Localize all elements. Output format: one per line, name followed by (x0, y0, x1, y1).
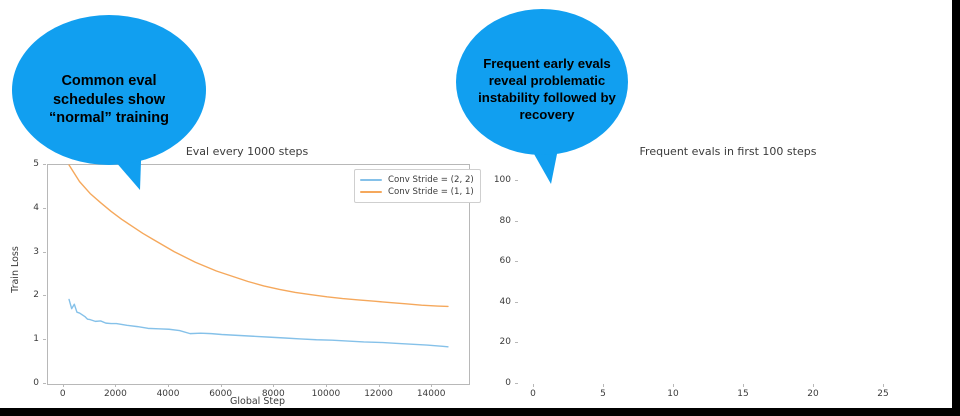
figure-canvas: Eval every 1000 steps Train Loss Global … (0, 0, 952, 408)
x-tick-label: 20 (790, 390, 836, 399)
x-tick-label: 0 (40, 390, 86, 399)
x-tick-mark (883, 384, 884, 387)
x-tick-mark (273, 384, 274, 387)
y-tick-mark (43, 383, 46, 384)
y-tick-label: 4 (5, 204, 39, 213)
y-tick-mark (515, 383, 518, 384)
x-tick-label: 4000 (145, 390, 191, 399)
x-tick-label: 0 (510, 390, 556, 399)
x-tick-label: 5 (580, 390, 626, 399)
x-tick-label: 14000 (408, 390, 454, 399)
y-tick-label: 1 (5, 335, 39, 344)
annotation-line: recovery (478, 106, 616, 123)
x-tick-mark (603, 384, 604, 387)
x-tick-mark (743, 384, 744, 387)
x-tick-label: 10 (650, 390, 696, 399)
x-tick-mark (326, 384, 327, 387)
y-tick-mark (43, 252, 46, 253)
x-tick-mark (533, 384, 534, 387)
x-tick-label: 15 (720, 390, 766, 399)
x-tick-label: 6000 (198, 390, 244, 399)
y-tick-mark (515, 342, 518, 343)
x-tick-mark (221, 384, 222, 387)
y-tick-label: 80 (477, 217, 511, 226)
y-tick-label: 40 (477, 298, 511, 307)
y-tick-mark (43, 208, 46, 209)
annotation-bubble-right-text: Frequent early evalsreveal problematicin… (468, 34, 626, 144)
y-tick-mark (515, 261, 518, 262)
annotation-line: reveal problematic (478, 72, 616, 89)
x-tick-label: 8000 (250, 390, 296, 399)
x-tick-label: 25 (860, 390, 906, 399)
x-tick-mark (63, 384, 64, 387)
annotation-bubble-left-text: Common evalschedules show“normal” traini… (28, 40, 190, 160)
legend-color-swatch (360, 191, 382, 193)
y-tick-mark (515, 302, 518, 303)
x-tick-mark (673, 384, 674, 387)
annotation-line: instability followed by (478, 89, 616, 106)
x-tick-mark (813, 384, 814, 387)
y-tick-mark (515, 221, 518, 222)
annotation-line: schedules show (49, 91, 169, 110)
x-tick-label: 12000 (356, 390, 402, 399)
annotation-line: “normal” training (49, 109, 169, 128)
annotation-line: Frequent early evals (478, 55, 616, 72)
series-line (69, 299, 448, 346)
x-tick-mark (115, 384, 116, 387)
x-tick-label: 2000 (92, 390, 138, 399)
annotation-line: Common eval (49, 72, 169, 91)
x-tick-mark (379, 384, 380, 387)
y-tick-mark (43, 295, 46, 296)
legend-color-swatch (360, 179, 382, 181)
y-tick-label: 0 (477, 379, 511, 388)
y-tick-label: 20 (477, 338, 511, 347)
x-tick-mark (431, 384, 432, 387)
y-tick-label: 0 (5, 379, 39, 388)
x-tick-label: 10000 (303, 390, 349, 399)
y-tick-mark (43, 339, 46, 340)
y-tick-label: 60 (477, 257, 511, 266)
y-tick-label: 3 (5, 248, 39, 257)
x-tick-mark (168, 384, 169, 387)
y-tick-label: 2 (5, 291, 39, 300)
